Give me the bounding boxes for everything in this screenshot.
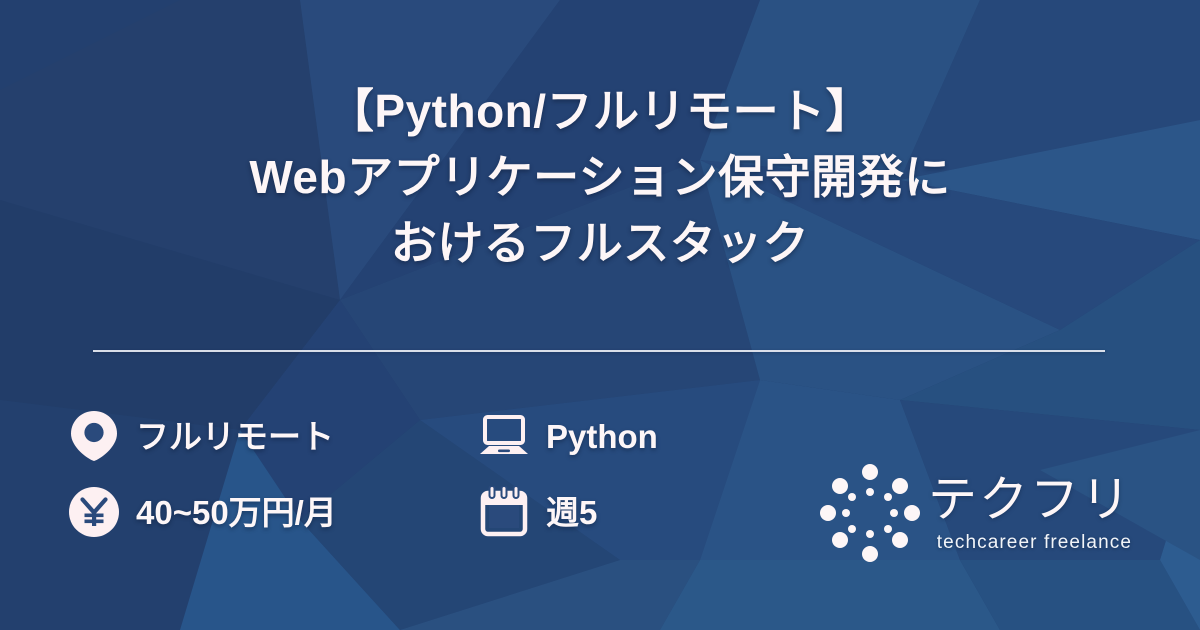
page-title: 【Python/フルリモート】 Webアプリケーション保守開発に おけるフルスタ… — [0, 78, 1200, 276]
brand-wordmark: テクフリ techcareer freelance — [928, 472, 1132, 554]
yen-circle-icon — [68, 486, 120, 538]
meta-row: フルリモート Python — [68, 398, 828, 474]
location-pin-icon — [68, 410, 120, 462]
dot-constellation-icon — [818, 463, 922, 563]
title-line-2: Webアプリケーション保守開発に — [0, 144, 1200, 210]
meta-row: 40~50万円/月 週5 — [68, 474, 828, 550]
job-posting-card: 【Python/フルリモート】 Webアプリケーション保守開発に おけるフルスタ… — [0, 0, 1200, 630]
workdays-label: 週5 — [546, 496, 597, 529]
brand-name-jp: テクフリ — [928, 472, 1132, 528]
title-line-3: おけるフルスタック — [0, 210, 1200, 276]
brand-tagline: techcareer freelance — [928, 532, 1132, 554]
job-meta-list: フルリモート Python — [68, 398, 828, 550]
horizontal-divider — [93, 350, 1105, 352]
work-style-label: フルリモート — [136, 420, 334, 453]
skill-label: Python — [546, 420, 658, 453]
meta-item-workdays: 週5 — [478, 486, 808, 538]
meta-item-work-style: フルリモート — [68, 410, 478, 462]
brand-logo: テクフリ techcareer freelance — [818, 462, 1148, 564]
salary-label: 40~50万円/月 — [136, 496, 337, 529]
meta-item-skill: Python — [478, 410, 808, 462]
calendar-icon — [478, 486, 530, 538]
title-line-1: 【Python/フルリモート】 — [0, 78, 1200, 144]
meta-item-salary: 40~50万円/月 — [68, 486, 478, 538]
laptop-icon — [478, 410, 530, 462]
